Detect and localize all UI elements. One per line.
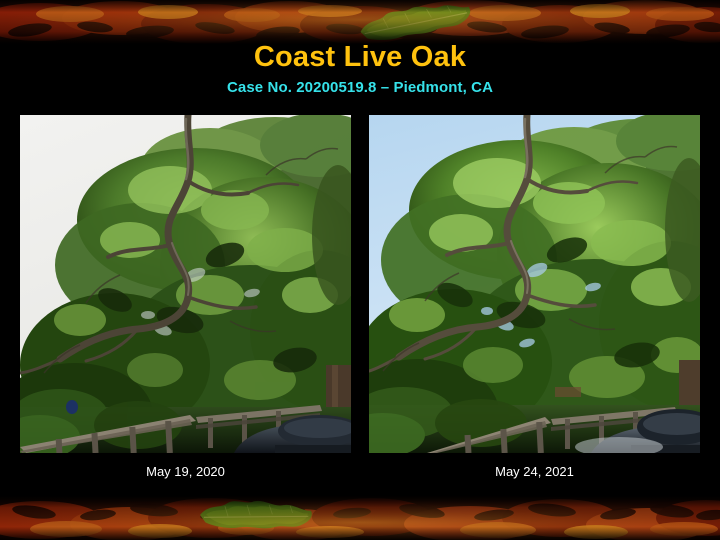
page-title: Coast Live Oak [0, 40, 720, 74]
oak-photo-2021-icon [369, 115, 700, 453]
blue-object [66, 400, 78, 414]
title-block: Coast Live Oak Case No. 20200519.8 – Pie… [0, 40, 720, 99]
autumn-oak-leaf-border-icon [0, 496, 720, 540]
page-subtitle: Case No. 20200519.8 – Piedmont, CA [0, 77, 720, 99]
caption-before: May 19, 2020 [20, 462, 351, 482]
caption-row: May 19, 2020 May 24, 2021 [20, 462, 700, 482]
bottom-leaf-border [0, 496, 720, 540]
photo-after[interactable] [369, 115, 700, 453]
photo-before[interactable] [20, 115, 351, 453]
caption-after: May 24, 2021 [369, 462, 700, 482]
top-leaf-border [0, 0, 720, 44]
autumn-oak-leaf-border-icon [0, 0, 720, 44]
photo-comparison-row [20, 115, 700, 453]
oak-photo-2020-icon [20, 115, 351, 453]
slide-root: Coast Live Oak Case No. 20200519.8 – Pie… [0, 0, 720, 540]
distant-structure [555, 387, 581, 397]
